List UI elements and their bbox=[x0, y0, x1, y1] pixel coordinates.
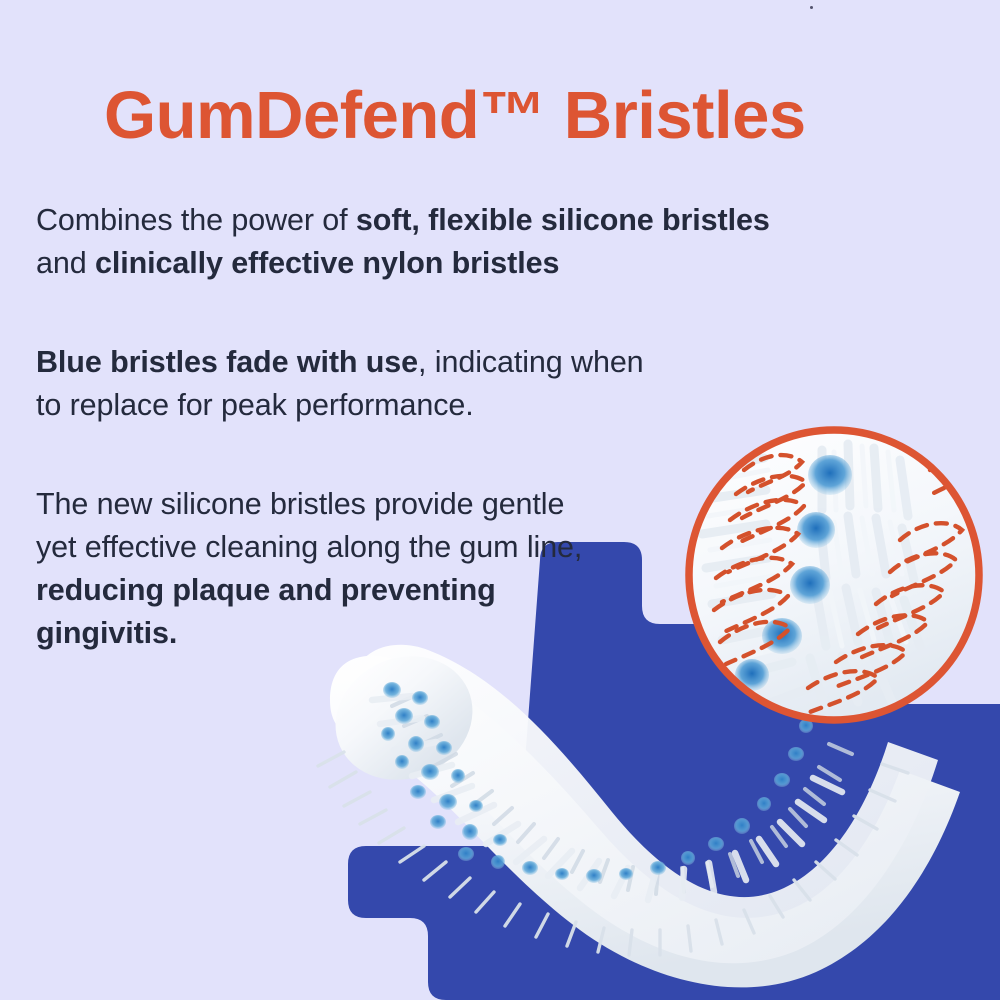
body-paragraph-1: Combines the power of soft, flexible sil… bbox=[36, 199, 776, 286]
page-title: GumDefend™ Bristles bbox=[104, 81, 806, 151]
para2-run-0: Blue bristles fade with use bbox=[36, 345, 418, 379]
body-paragraph-3: The new silicone bristles provide gentle… bbox=[36, 483, 596, 656]
para3-run-1: reducing plaque and preventing gingiviti… bbox=[36, 573, 496, 650]
para1-run-3: clinically effective nylon bristles bbox=[95, 246, 559, 280]
image-speck-artifact bbox=[810, 6, 813, 9]
infographic-canvas: GumDefend™ Bristles Combines the power o… bbox=[0, 0, 1000, 1000]
body-paragraph-2: Blue bristles fade with use, indicating … bbox=[36, 341, 676, 428]
para3-run-0: The new silicone bristles provide gentle… bbox=[36, 487, 582, 564]
para1-run-0: Combines the power of bbox=[36, 203, 356, 237]
para1-run-1: soft, flexible silicone bristles bbox=[356, 203, 770, 237]
para1-run-2: and bbox=[36, 246, 95, 280]
